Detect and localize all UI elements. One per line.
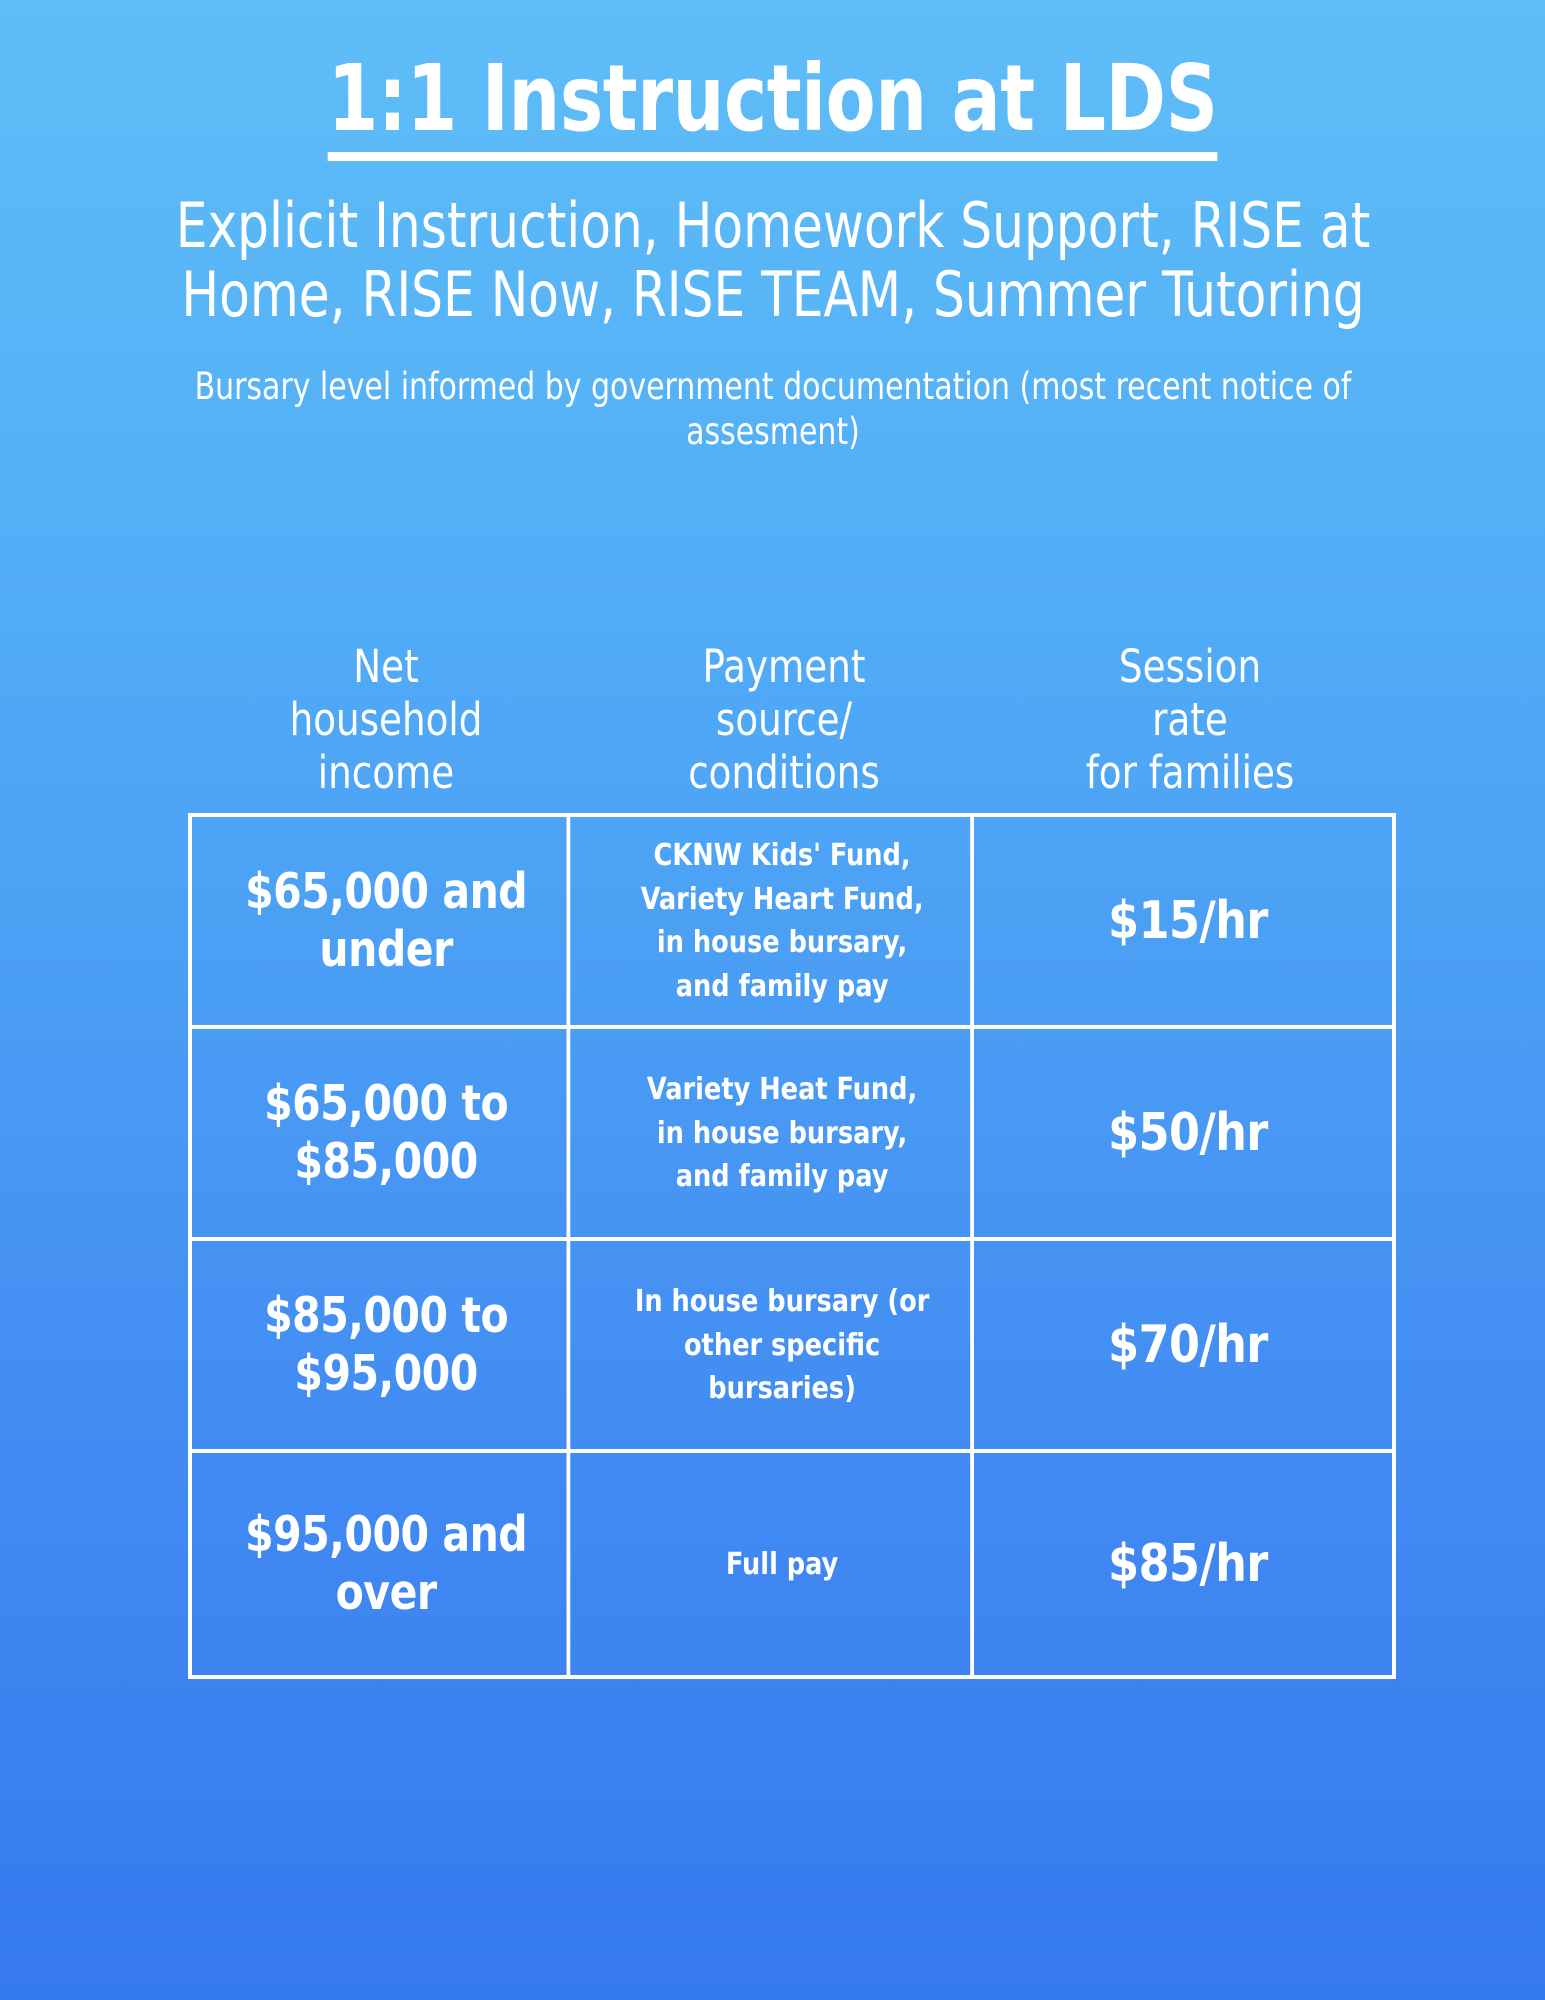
cell-session-rate: $15/hr xyxy=(994,817,1382,1025)
cell-income: $85,000 to $95,000 xyxy=(206,1241,571,1449)
poster-subtitle: Explicit Instruction, Homework Support, … xyxy=(129,191,1416,330)
cell-income: $95,000 and over xyxy=(206,1453,571,1675)
table-row: $95,000 and over Full pay $85/hr xyxy=(192,1453,1392,1675)
bursary-note: Bursary level informed by government doc… xyxy=(143,364,1403,454)
cell-payment-source: CKNW Kids' Fund, Variety Heart Fund, in … xyxy=(594,817,974,1025)
table-row: $65,000 to $85,000 Variety Heat Fund, in… xyxy=(192,1029,1392,1241)
table-body: $65,000 and under CKNW Kids' Fund, Varie… xyxy=(188,813,1396,1679)
pricing-poster: 1:1 Instruction at LDS Explicit Instruct… xyxy=(0,0,1545,2000)
cell-session-rate: $85/hr xyxy=(994,1453,1382,1675)
table-row: $85,000 to $95,000 In house bursary (or … xyxy=(192,1241,1392,1453)
column-header-payment-source-conditions: Payment source/ conditions xyxy=(600,640,968,813)
cell-payment-source: Variety Heat Fund, in house bursary, and… xyxy=(594,1029,974,1237)
cell-income: $65,000 to $85,000 xyxy=(206,1029,571,1237)
page-title: 1:1 Instruction at LDS xyxy=(328,52,1218,161)
cell-payment-source: Full pay xyxy=(594,1453,974,1675)
column-header-session-rate-for-families: Session rate for families xyxy=(1000,640,1379,813)
table-header-row: Net household income Payment source/ con… xyxy=(188,640,1396,813)
cell-payment-source: In house bursary (or other specific burs… xyxy=(594,1241,974,1449)
column-header-net-household-income: Net household income xyxy=(204,640,568,813)
pricing-table: Net household income Payment source/ con… xyxy=(188,640,1396,1679)
cell-session-rate: $70/hr xyxy=(994,1241,1382,1449)
poster-header: 1:1 Instruction at LDS Explicit Instruct… xyxy=(0,0,1545,454)
cell-session-rate: $50/hr xyxy=(994,1029,1382,1237)
table-row: $65,000 and under CKNW Kids' Fund, Varie… xyxy=(192,817,1392,1029)
cell-income: $65,000 and under xyxy=(206,817,571,1025)
